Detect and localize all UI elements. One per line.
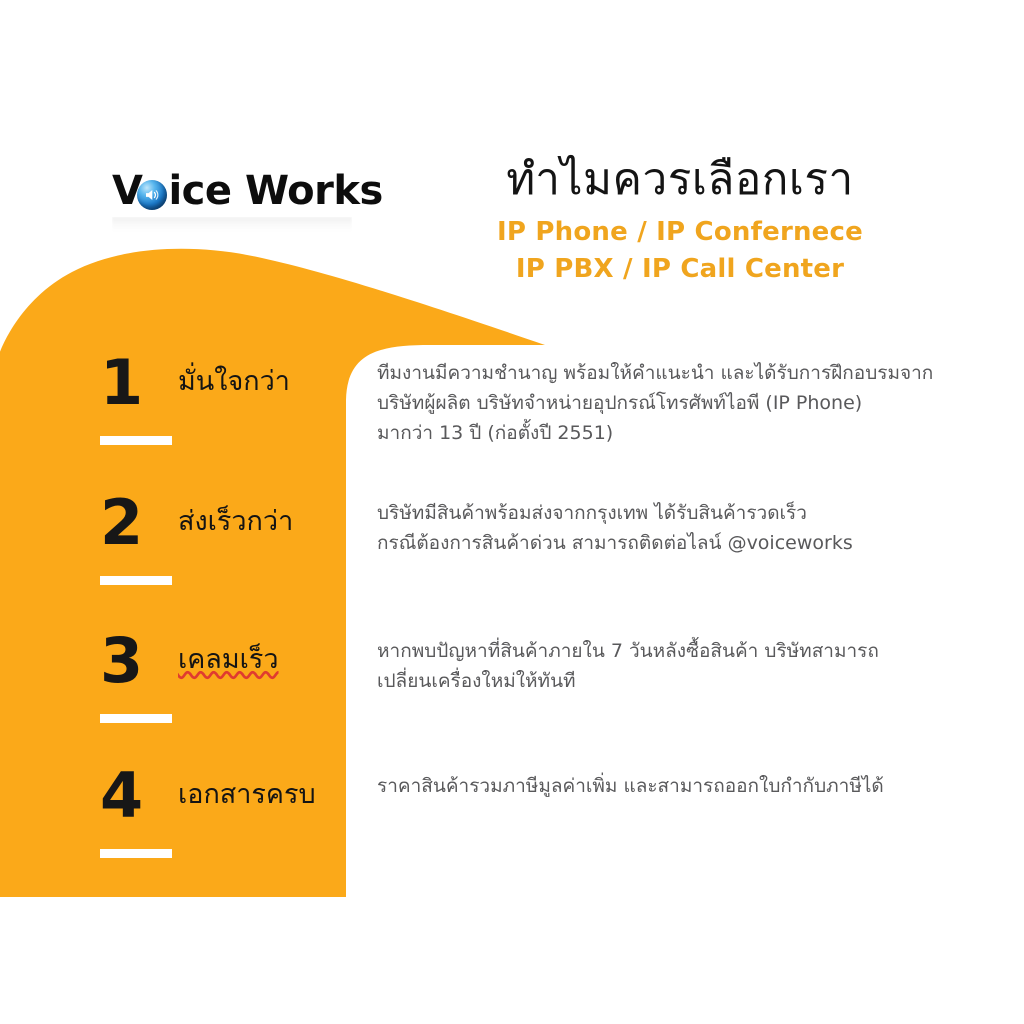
benefit-description-line: ทีมงานมีความชำนาญ พร้อมให้คำแนะนำ และได้… (377, 358, 977, 388)
benefit-description-line: กรณีต้องการสินค้าด่วน สามารถติดต่อไลน์ @… (377, 528, 977, 558)
benefit-description-line: มากว่า 13 ปี (ก่อตั้งปี 2551) (377, 418, 977, 448)
benefit-divider-1 (100, 436, 172, 445)
header-block: ทำไมควรเลือกเรา IP Phone / IP Confernece… (380, 155, 980, 288)
benefit-description-line: หากพบปัญหาที่สินค้าภายใน 7 วันหลังซื้อสิ… (377, 636, 977, 666)
benefit-divider-4 (100, 849, 172, 858)
benefit-description-line: บริษัทมีสินค้าพร้อมส่งจากกรุงเทพ ได้รับส… (377, 498, 977, 528)
logo-reflection (112, 217, 352, 237)
subtitle-line-1: IP Phone / IP Confernece (380, 214, 980, 251)
benefit-description-2: บริษัทมีสินค้าพร้อมส่งจากกรุงเทพ ได้รับส… (377, 498, 977, 558)
poster-canvas: Vice Works ทำไมควรเลือกเรา IP Phone / IP… (0, 0, 1024, 1024)
benefit-label-4: เอกสารครบ (178, 779, 316, 811)
benefit-description-4: ราคาสินค้ารวมภาษีมูลค่าเพิ่ม และสามารถออ… (377, 771, 977, 801)
brand-logo: Vice Works (112, 160, 352, 222)
logo-word-ice: ice (168, 168, 231, 214)
benefit-description-line: เปลี่ยนเครื่องใหม่ให้ทันที (377, 666, 977, 696)
subtitle-line-2: IP PBX / IP Call Center (380, 251, 980, 288)
speaker-icon (137, 180, 167, 210)
benefit-label-1: มั่นใจกว่า (178, 366, 290, 398)
benefit-description-line: ราคาสินค้ารวมภาษีมูลค่าเพิ่ม และสามารถออ… (377, 771, 977, 801)
brand-logo-text: Vice Works (112, 171, 383, 211)
benefit-description-3: หากพบปัญหาที่สินค้าภายใน 7 วันหลังซื้อสิ… (377, 636, 977, 696)
benefit-description-line: บริษัทผู้ผลิต บริษัทจำหน่ายอุปกรณ์โทรศัพ… (377, 388, 977, 418)
benefit-number-1: 1 (100, 352, 170, 414)
benefit-label-2: ส่งเร็วกว่า (178, 506, 293, 538)
benefit-description-1: ทีมงานมีความชำนาญ พร้อมให้คำแนะนำ และได้… (377, 358, 977, 448)
benefit-number-3: 3 (100, 630, 170, 692)
benefit-item-1: 1 มั่นใจกว่า ทีมงานมีความชำนาญ พร้อมให้ค… (0, 352, 1024, 492)
benefit-item-4: 4 เอกสารครบ ราคาสินค้ารวมภาษีมูลค่าเพิ่ม… (0, 765, 1024, 905)
benefit-divider-2 (100, 576, 172, 585)
page-title: ทำไมควรเลือกเรา (380, 155, 980, 204)
benefit-number-2: 2 (100, 492, 170, 554)
benefit-number-4: 4 (100, 765, 170, 827)
benefit-item-3: 3 เคลมเร็ว หากพบปัญหาที่สินค้าภายใน 7 วั… (0, 630, 1024, 770)
benefit-divider-3 (100, 714, 172, 723)
logo-word-works: Works (245, 168, 383, 214)
benefit-item-2: 2 ส่งเร็วกว่า บริษัทมีสินค้าพร้อมส่งจากก… (0, 492, 1024, 632)
benefit-label-3: เคลมเร็ว (178, 644, 279, 676)
